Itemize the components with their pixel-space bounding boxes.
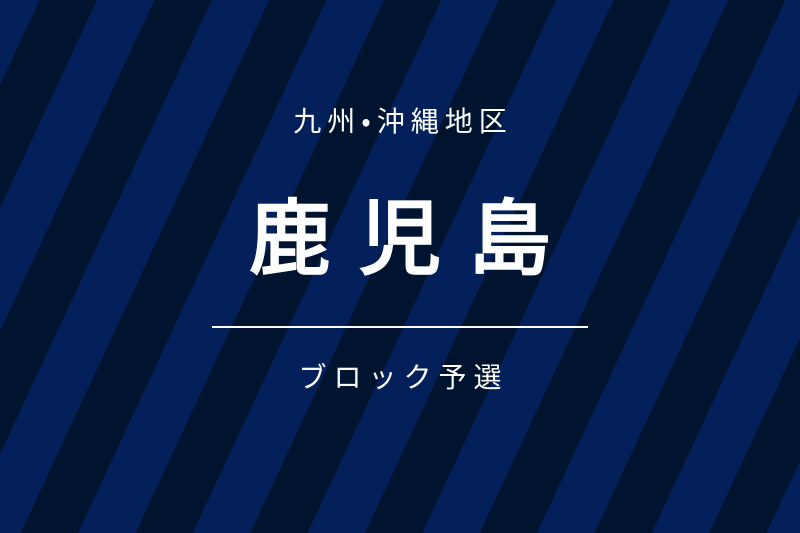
tournament-banner: 九州・沖縄地区 鹿児島 ブロック予選 [0, 0, 800, 533]
title-divider [212, 326, 588, 328]
region-label: 九州・沖縄地区 [287, 108, 513, 136]
prefecture-title: 鹿児島 [221, 199, 579, 281]
banner-content: 九州・沖縄地区 鹿児島 ブロック予選 [0, 0, 800, 533]
round-label: ブロック予選 [291, 364, 508, 392]
